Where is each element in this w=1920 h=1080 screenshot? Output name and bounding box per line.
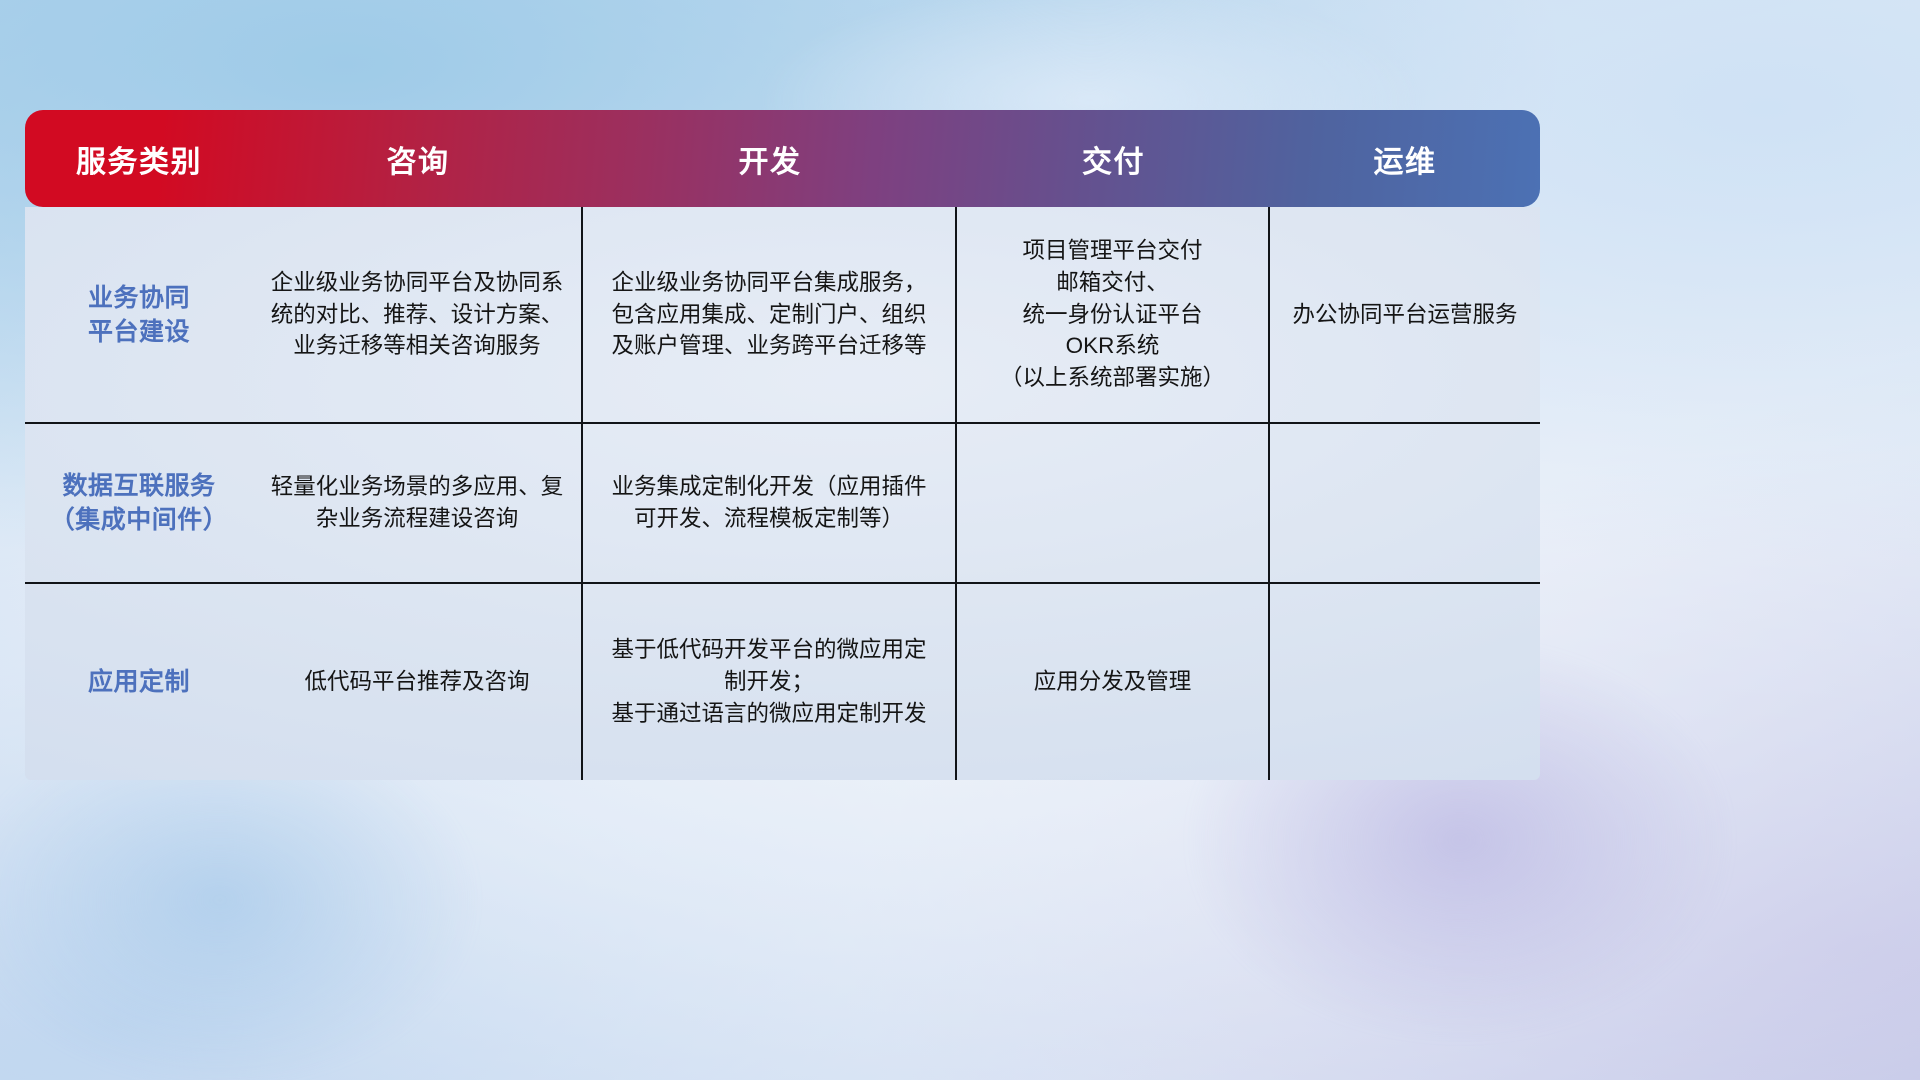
cell-consulting: 低代码平台推荐及咨询 — [253, 584, 583, 780]
table-header-row: 服务类别 咨询 开发 交付 运维 — [25, 110, 1540, 207]
service-matrix-table: 服务类别 咨询 开发 交付 运维 业务协同 平台建设 企业级业务协同平台及协同系… — [25, 110, 1540, 780]
cell-delivery: 应用分发及管理 — [957, 584, 1270, 780]
column-header-operations: 运维 — [1270, 137, 1540, 181]
cell-operations — [1270, 584, 1540, 780]
cell-delivery: 项目管理平台交付 邮箱交付、 统一身份认证平台 OKR系统 （以上系统部署实施） — [957, 207, 1270, 422]
column-header-development: 开发 — [583, 137, 957, 181]
row-category-label: 业务协同 平台建设 — [25, 207, 253, 422]
cell-development: 业务集成定制化开发（应用插件 可开发、流程模板定制等） — [583, 424, 957, 582]
table-row: 业务协同 平台建设 企业级业务协同平台及协同系 统的对比、推荐、设计方案、 业务… — [25, 207, 1540, 422]
cell-operations: 办公协同平台运营服务 — [1270, 207, 1540, 422]
column-header-delivery: 交付 — [957, 137, 1270, 181]
row-category-label: 应用定制 — [25, 584, 253, 780]
cell-consulting: 企业级业务协同平台及协同系 统的对比、推荐、设计方案、 业务迁移等相关咨询服务 — [253, 207, 583, 422]
table-row: 数据互联服务 （集成中间件） 轻量化业务场景的多应用、复 杂业务流程建设咨询 业… — [25, 422, 1540, 582]
table-body: 业务协同 平台建设 企业级业务协同平台及协同系 统的对比、推荐、设计方案、 业务… — [25, 207, 1540, 780]
table-row: 应用定制 低代码平台推荐及咨询 基于低代码开发平台的微应用定 制开发； 基于通过… — [25, 582, 1540, 780]
cell-operations — [1270, 424, 1540, 582]
cell-consulting: 轻量化业务场景的多应用、复 杂业务流程建设咨询 — [253, 424, 583, 582]
column-header-consulting: 咨询 — [253, 137, 583, 181]
cell-delivery — [957, 424, 1270, 582]
cell-development: 基于低代码开发平台的微应用定 制开发； 基于通过语言的微应用定制开发 — [583, 584, 957, 780]
cell-development: 企业级业务协同平台集成服务， 包含应用集成、定制门户、组织 及账户管理、业务跨平… — [583, 207, 957, 422]
row-category-label: 数据互联服务 （集成中间件） — [25, 424, 253, 582]
column-header-service-category: 服务类别 — [25, 137, 253, 181]
